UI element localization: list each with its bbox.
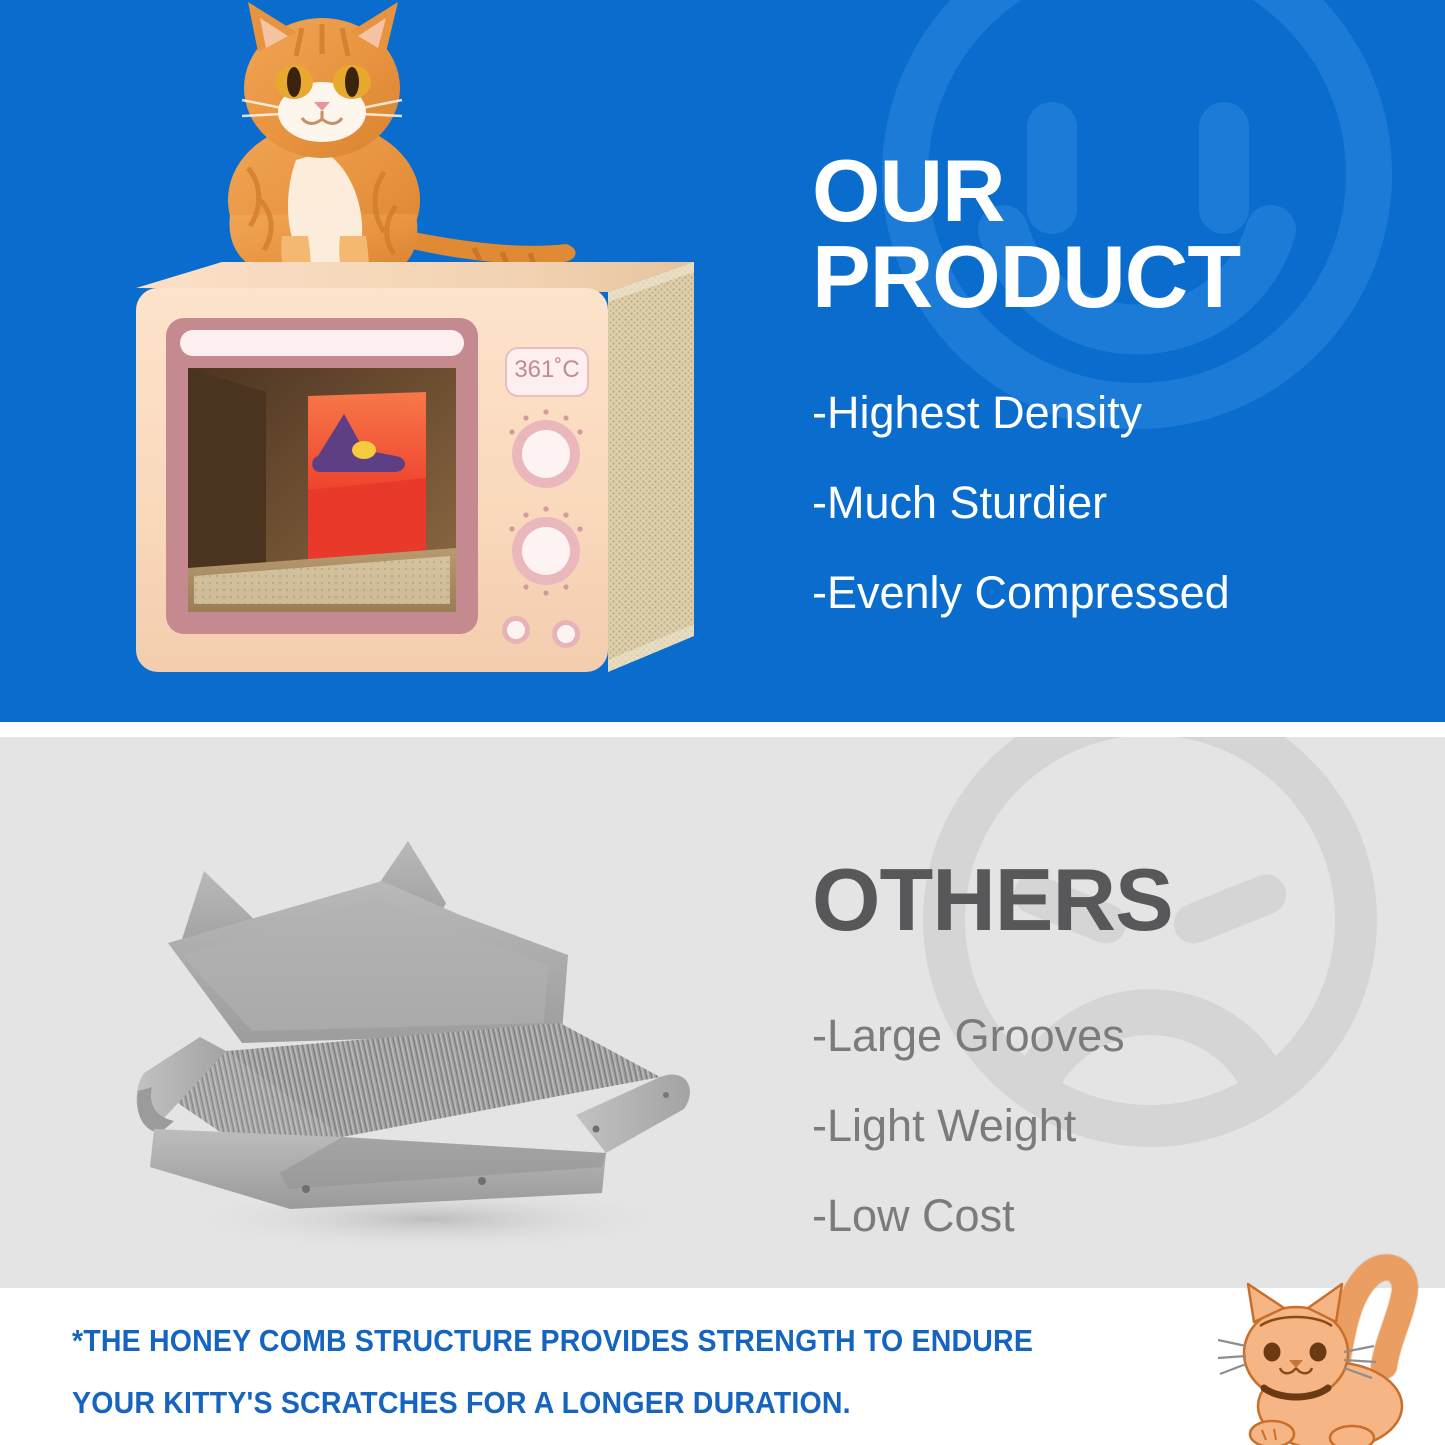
orange-tabby-cat	[228, 2, 576, 288]
microwave-cat-house-image: 361˚C	[96, 0, 716, 700]
others-bullet-list: -Large Grooves -Light Weight -Low Cost	[812, 1013, 1412, 1238]
grey-scratcher-image	[130, 837, 730, 1267]
our-product-bullet-list: -Highest Density -Much Sturdier -Evenly …	[812, 390, 1412, 615]
others-bullet-1: -Large Grooves	[812, 1013, 1412, 1058]
our-product-bullet-2: -Much Sturdier	[812, 480, 1412, 525]
our-product-heading: OUR PRODUCT	[812, 148, 1412, 320]
others-text-column: OTHERS -Large Grooves -Light Weight -Low…	[812, 857, 1412, 1238]
our-product-bullet-3: -Evenly Compressed	[812, 570, 1412, 615]
infographic-page: 361˚C OUR PRODUCT -Highest Density -Much…	[0, 0, 1445, 1445]
temperature-value: 361˚C	[506, 356, 588, 384]
footer-note: *THE HONEY COMB STRUCTURE PROVIDES STREN…	[72, 1310, 1102, 1434]
cartoon-cat-mascot	[1218, 1248, 1428, 1445]
others-heading: OTHERS	[812, 857, 1412, 943]
our-product-bullet-1: -Highest Density	[812, 390, 1412, 435]
others-panel: OTHERS -Large Grooves -Light Weight -Low…	[0, 737, 1445, 1288]
our-product-text-column: OUR PRODUCT -Highest Density -Much Sturd…	[812, 148, 1412, 615]
others-bullet-3: -Low Cost	[812, 1193, 1412, 1238]
our-product-panel: 361˚C OUR PRODUCT -Highest Density -Much…	[0, 0, 1445, 722]
others-bullet-2: -Light Weight	[812, 1103, 1412, 1148]
